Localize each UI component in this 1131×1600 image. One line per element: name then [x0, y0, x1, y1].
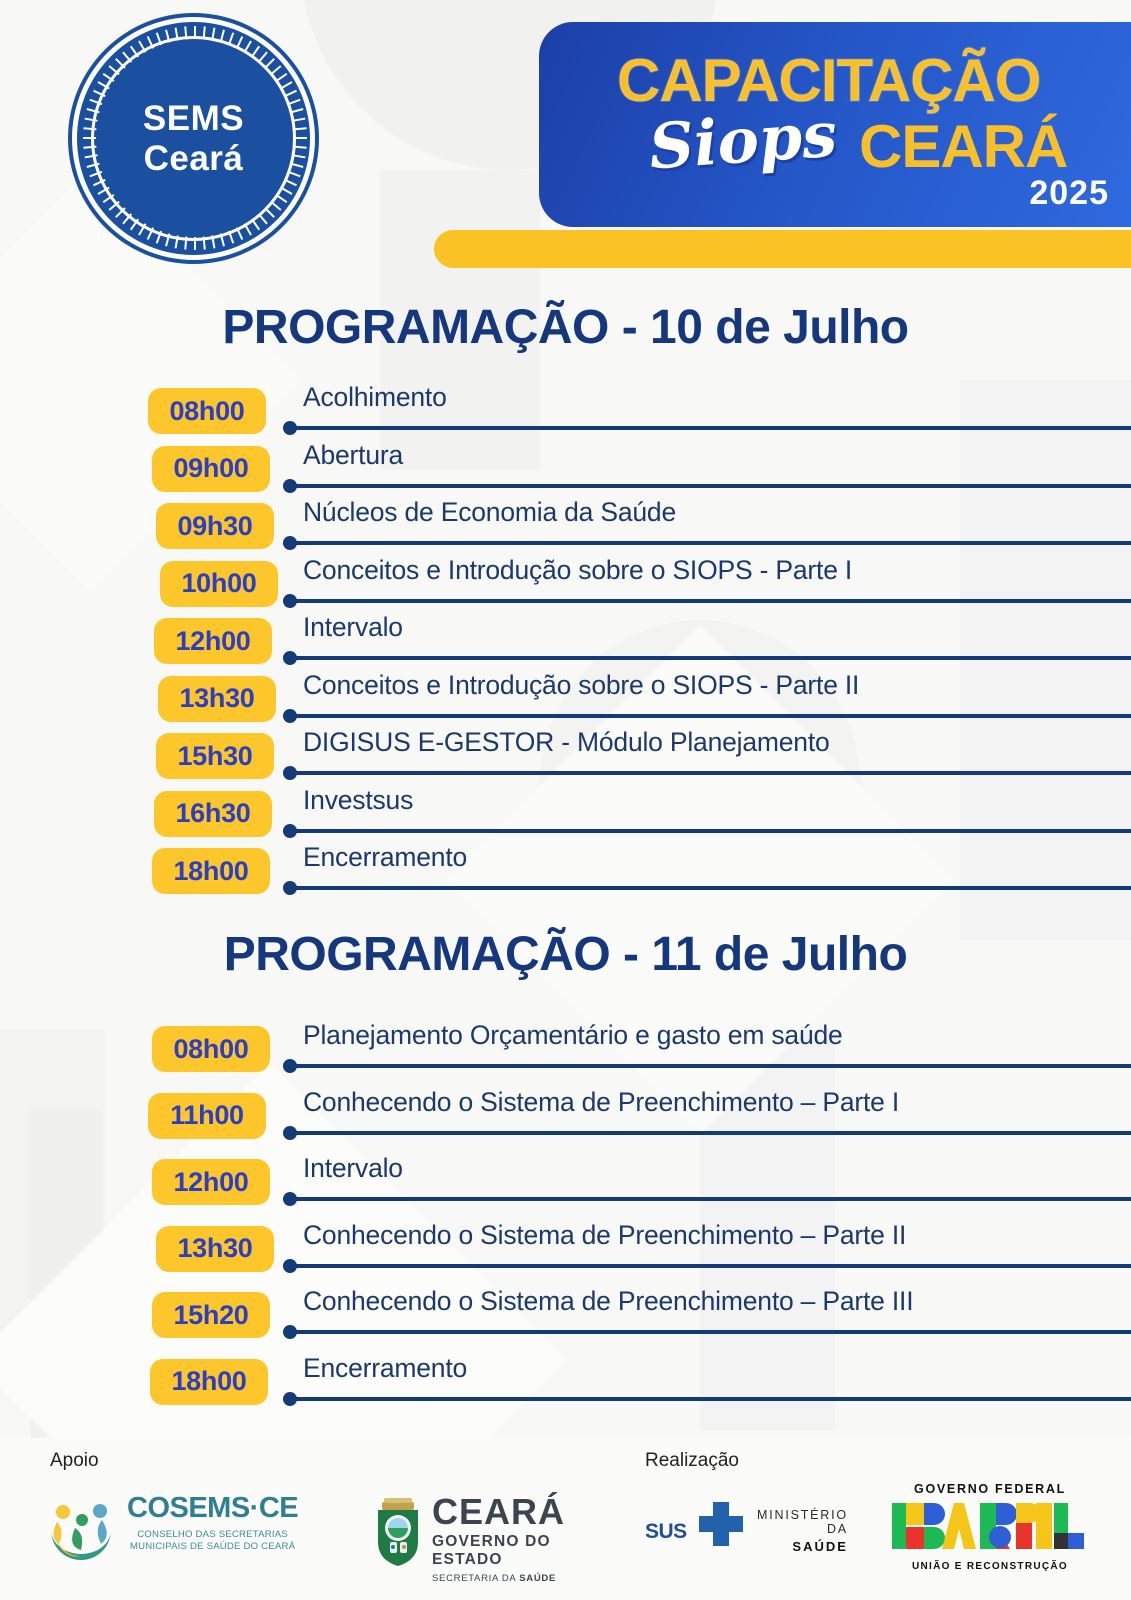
session-title: Conceitos e Introdução sobre o SIOPS - P…: [303, 670, 859, 701]
timeline-rule: [288, 829, 1131, 833]
session-title: Planejamento Orçamentário e gasto em saú…: [303, 1020, 843, 1051]
time-pill: 18h00: [152, 848, 270, 894]
timeline-dot-icon: [283, 651, 297, 665]
time-pill: 09h30: [156, 503, 274, 549]
ministry-line1: MINISTÉRIO DA: [757, 1508, 848, 1536]
ceara-gov-line: GOVERNO DO ESTADO: [432, 1533, 610, 1569]
timeline-rule: [288, 426, 1131, 430]
schedule-row: 09h00Abertura: [0, 446, 1131, 502]
day2-title: PROGRAMAÇÃO - 11 de Julho: [0, 927, 1131, 982]
time-pill: 12h00: [154, 618, 272, 664]
realizacao-label: Realização: [645, 1450, 739, 1472]
session-title: Encerramento: [303, 1353, 467, 1384]
schedule-row: 18h00Encerramento: [0, 848, 1131, 904]
timeline-dot-icon: [283, 1259, 297, 1273]
cosems-text-block: COSEMS·CE CONSELHO DAS SECRETARIAS MUNIC…: [127, 1494, 298, 1553]
schedule-row: 12h00Intervalo: [0, 618, 1131, 674]
cosems-sub: CONSELHO DAS SECRETARIAS MUNICIPAIS DE S…: [127, 1529, 298, 1553]
schedule-row: 15h20Conhecendo o Sistema de Preenchimen…: [0, 1292, 1131, 1348]
time-pill: 10h00: [160, 561, 278, 607]
timeline-dot-icon: [283, 709, 297, 723]
brasil-wordmark-icon: [890, 1501, 1086, 1551]
timeline-dot-icon: [283, 479, 297, 493]
banner-year: 2025: [1029, 174, 1109, 213]
session-title: DIGISUS E-GESTOR - Módulo Planejamento: [303, 727, 830, 758]
timeline-dot-icon: [283, 766, 297, 780]
time-pill: 13h30: [156, 1226, 274, 1272]
seal-line-1: SEMS: [143, 99, 244, 138]
schedule-row: 11h00Conhecendo o Sistema de Preenchimen…: [0, 1093, 1131, 1149]
schedule-row: 10h00Conceitos e Introdução sobre o SIOP…: [0, 561, 1131, 617]
session-title: Intervalo: [303, 612, 403, 643]
ceara-coat-of-arms-icon: [370, 1496, 426, 1568]
schedule-row: 13h30Conceitos e Introdução sobre o SIOP…: [0, 676, 1131, 732]
timeline-dot-icon: [283, 881, 297, 895]
time-pill: 18h00: [150, 1359, 268, 1405]
ceara-sec-prefix: SECRETARIA DA: [432, 1573, 519, 1584]
time-pill: 13h30: [158, 676, 276, 722]
ceara-name: CEARÁ: [432, 1494, 610, 1530]
governo-federal-brasil-logo: GOVERNO FEDERAL UNIÃO E RECONSTRUÇÃO: [890, 1482, 1090, 1582]
session-title: Intervalo: [303, 1153, 403, 1184]
session-title: Acolhimento: [303, 382, 447, 413]
timeline-rule: [288, 1064, 1131, 1068]
session-title: Encerramento: [303, 842, 467, 873]
cosems-name: COSEMS·CE: [127, 1494, 298, 1523]
time-pill: 12h00: [152, 1159, 270, 1205]
session-title: Conhecendo o Sistema de Preenchimento – …: [303, 1286, 913, 1317]
poster-canvas: SEMS Ceará CAPACITAÇÃO CEARÁ Siops 2025 …: [0, 0, 1131, 1600]
timeline-dot-icon: [283, 1192, 297, 1206]
time-pill: 15h30: [156, 733, 274, 779]
cosems-sub-line1: CONSELHO DAS SECRETARIAS: [127, 1529, 298, 1541]
time-pill: 08h00: [152, 1026, 270, 1072]
day1-title: PROGRAMAÇÃO - 10 de Julho: [0, 300, 1131, 355]
schedule-row: 08h00Planejamento Orçamentário e gasto e…: [0, 1026, 1131, 1082]
sus-cross-icon: [699, 1502, 743, 1546]
timeline-dot-icon: [283, 1126, 297, 1140]
timeline-rule: [288, 771, 1131, 775]
timeline-dot-icon: [283, 421, 297, 435]
timeline-dot-icon: [283, 536, 297, 550]
footer: Apoio Realização COSEMS·CE CONSELHO DAS …: [0, 1438, 1131, 1600]
timeline-rule: [288, 1197, 1131, 1201]
uniao-reconstrucao-label: UNIÃO E RECONSTRUÇÃO: [890, 1561, 1090, 1572]
timeline-rule: [288, 1264, 1131, 1268]
ministry-text-block: MINISTÉRIO DA SAÚDE: [757, 1508, 848, 1554]
session-title: Investsus: [303, 785, 413, 816]
time-pill: 16h30: [154, 791, 272, 837]
timeline-rule: [288, 656, 1131, 660]
ceara-sec-strong: SAÚDE: [519, 1573, 556, 1584]
seal-line-2: Ceará: [143, 139, 244, 178]
timeline-dot-icon: [283, 1325, 297, 1339]
time-pill: 11h00: [148, 1093, 266, 1139]
timeline-rule: [288, 1330, 1131, 1334]
schedule-row: 18h00Encerramento: [0, 1359, 1131, 1415]
banner-yellow-bar: [434, 230, 1131, 268]
event-banner: CAPACITAÇÃO CEARÁ Siops 2025: [539, 22, 1131, 227]
schedule-row: 09h30Núcleos de Economia da Saúde: [0, 503, 1131, 559]
schedule-row: 15h30DIGISUS E-GESTOR - Módulo Planejame…: [0, 733, 1131, 789]
session-title: Núcleos de Economia da Saúde: [303, 497, 676, 528]
banner-script-siops: Siops: [647, 98, 840, 184]
schedule-row: 08h00Acolhimento: [0, 388, 1131, 444]
ceara-text-block: CEARÁ GOVERNO DO ESTADO SECRETARIA DA SA…: [432, 1494, 610, 1584]
sus-wordmark: SUS: [645, 1520, 687, 1544]
ceara-secretaria-line: SECRETARIA DA SAÚDE: [432, 1573, 610, 1584]
session-title: Conhecendo o Sistema de Preenchimento – …: [303, 1220, 906, 1251]
timeline-rule: [288, 599, 1131, 603]
sems-ceara-seal: SEMS Ceará: [77, 22, 310, 255]
apoio-label: Apoio: [50, 1450, 99, 1472]
sus-ministry-logo: SUS MINISTÉRIO DA SAÚDE: [645, 1500, 835, 1564]
timeline-rule: [288, 541, 1131, 545]
seal-text: SEMS Ceará: [143, 99, 244, 177]
timeline-rule: [288, 484, 1131, 488]
cosems-ce-logo: COSEMS·CE CONSELHO DAS SECRETARIAS MUNIC…: [45, 1494, 315, 1572]
governo-federal-label: GOVERNO FEDERAL: [890, 1482, 1090, 1496]
cosems-sub-line2: MUNICIPAIS DE SAÚDE DO CEARÁ: [127, 1541, 298, 1553]
timeline-dot-icon: [283, 824, 297, 838]
timeline-dot-icon: [283, 1392, 297, 1406]
ceara-government-logo: CEARÁ GOVERNO DO ESTADO SECRETARIA DA SA…: [370, 1492, 610, 1576]
timeline-dot-icon: [283, 1059, 297, 1073]
time-pill: 15h20: [152, 1292, 270, 1338]
schedule-row: 16h30Investsus: [0, 791, 1131, 847]
banner-title-ceara: CEARÁ: [859, 118, 1067, 175]
banner-title-capacitacao: CAPACITAÇÃO: [617, 52, 1131, 109]
ministry-line2: SAÚDE: [757, 1539, 848, 1554]
session-title: Abertura: [303, 440, 403, 471]
schedule-row: 13h30Conhecendo o Sistema de Preenchimen…: [0, 1226, 1131, 1282]
time-pill: 08h00: [148, 388, 266, 434]
timeline-rule: [288, 1397, 1131, 1401]
schedule-row: 12h00Intervalo: [0, 1159, 1131, 1215]
timeline-rule: [288, 886, 1131, 890]
time-pill: 09h00: [152, 446, 270, 492]
timeline-rule: [288, 1131, 1131, 1135]
session-title: Conhecendo o Sistema de Preenchimento – …: [303, 1087, 899, 1118]
timeline-dot-icon: [283, 594, 297, 608]
cosems-people-icon: [45, 1500, 117, 1564]
timeline-rule: [288, 714, 1131, 718]
session-title: Conceitos e Introdução sobre o SIOPS - P…: [303, 555, 852, 586]
